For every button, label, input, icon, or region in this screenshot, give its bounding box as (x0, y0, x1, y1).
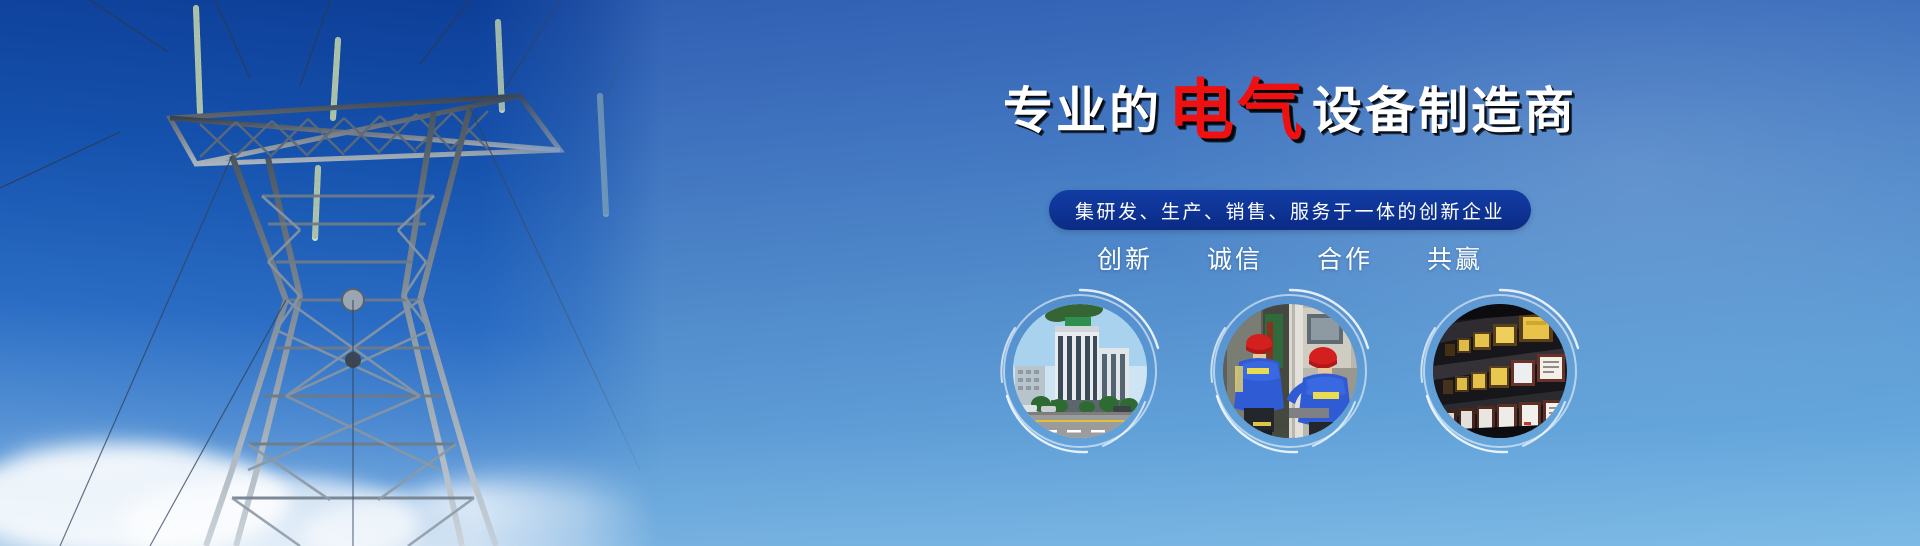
headline-highlight: 电气 (1168, 78, 1306, 144)
photo-circle-row (660, 296, 1920, 446)
banner-content: 专业的电气设备制造商 集研发、生产、销售、服务于一体的创新企业 创新 诚信 合作… (660, 0, 1920, 546)
office-building-photo (1013, 304, 1147, 438)
tagline-text: 集研发、生产、销售、服务于一体的创新企业 (1049, 197, 1531, 224)
keyword-integrity: 诚信 (1207, 240, 1263, 276)
technicians-illustration (1223, 304, 1357, 438)
headline-part-1: 专业的 (1003, 86, 1162, 136)
keyword-innovation: 创新 (1097, 240, 1153, 276)
headline-part-3: 设备制造商 (1312, 86, 1577, 136)
photo-circle-certificates (1425, 296, 1575, 446)
page-title: 专业的电气设备制造商 (660, 78, 1920, 144)
photo-circle-technicians (1215, 296, 1365, 446)
photo-circle-office (1005, 296, 1155, 446)
hero-banner: 专业的电气设备制造商 集研发、生产、销售、服务于一体的创新企业 创新 诚信 合作… (0, 0, 1920, 546)
technicians-working-photo (1223, 304, 1357, 438)
keyword-win-win: 共赢 (1427, 240, 1483, 276)
tower-lattice-icon (0, 0, 660, 546)
certificate-wall-illustration (1433, 304, 1567, 438)
transmission-tower-photo (0, 0, 660, 546)
keyword-row: 创新 诚信 合作 共赢 (660, 240, 1920, 276)
office-building-illustration (1013, 304, 1147, 438)
certificates-wall-photo (1433, 304, 1567, 438)
tagline-pill: 集研发、生产、销售、服务于一体的创新企业 (1049, 190, 1531, 230)
keyword-cooperation: 合作 (1317, 240, 1373, 276)
